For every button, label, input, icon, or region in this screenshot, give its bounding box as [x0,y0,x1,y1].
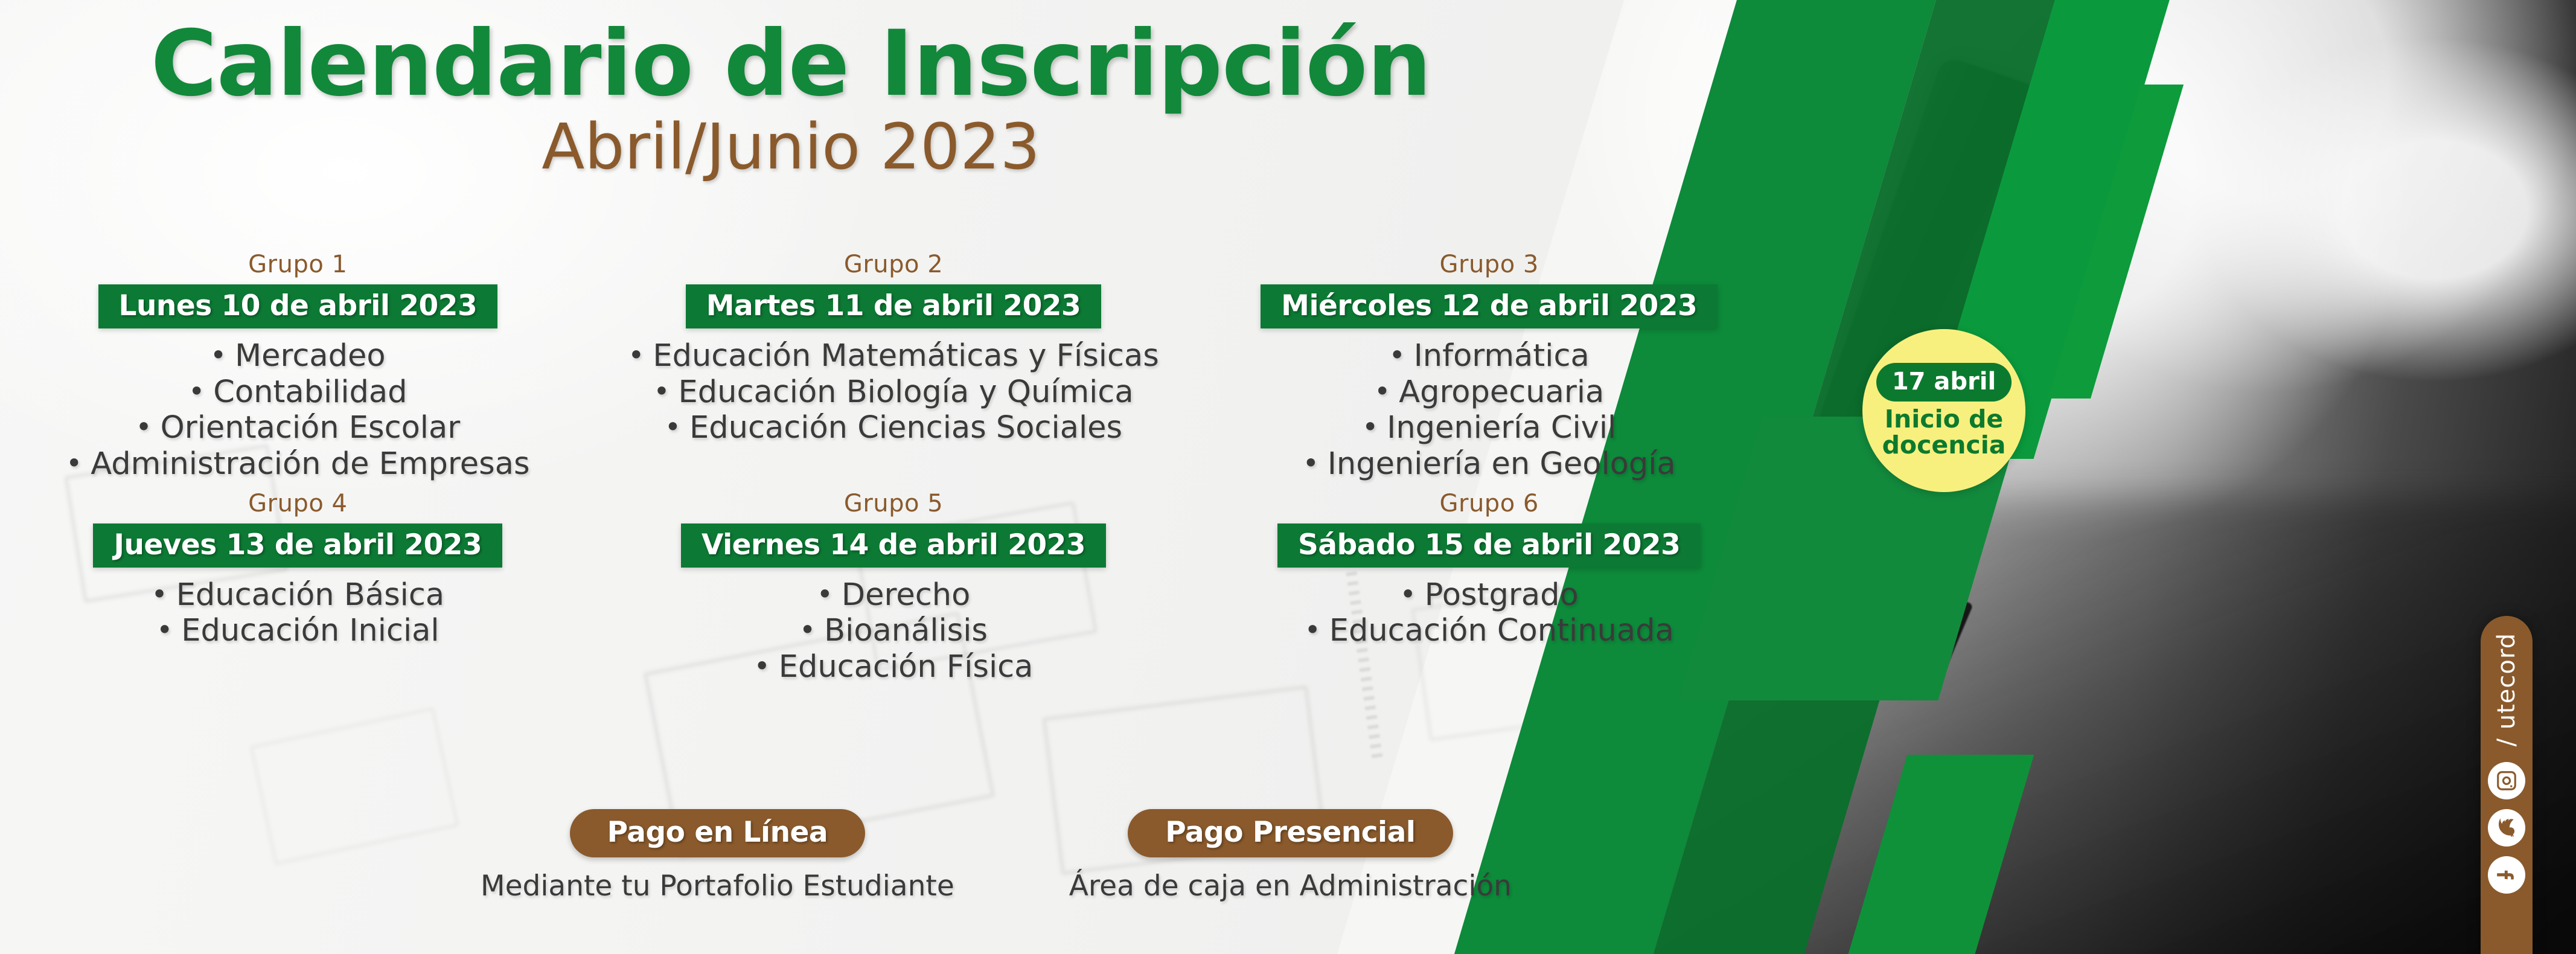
group-date-badge: Sábado 15 de abril 2023 [1277,523,1701,568]
group-grid: Grupo 1 Lunes 10 de abril 2023 Mercadeo … [0,251,1787,685]
career-list: Educación Básica Educación Inicial [11,577,585,649]
payment-options: Pago en Línea Mediante tu Portafolio Est… [423,809,1570,903]
start-of-classes-badge: 17 abril Inicio de docencia [1862,329,2025,492]
career-list: Postgrado Educación Continuada [1202,577,1776,649]
payment-option-in-person: Pago Presencial Área de caja en Administ… [1069,809,1512,903]
career-list: Mercadeo Contabilidad Orientación Escola… [11,338,585,482]
online-payment-button[interactable]: Pago en Línea [570,809,866,857]
group-date-badge: Martes 11 de abril 2023 [686,284,1101,328]
badge-label: Inicio de docencia [1882,406,2006,459]
group-label: Grupo 6 [1202,490,1776,517]
list-item: Ingeniería Civil [1202,410,1776,446]
group-row-first: Grupo 1 Lunes 10 de abril 2023 Mercadeo … [0,251,1787,482]
list-item: Administración de Empresas [11,446,585,482]
group-card-3: Grupo 3 Miércoles 12 de abril 2023 Infor… [1191,251,1787,482]
in-person-payment-button[interactable]: Pago Presencial [1128,809,1453,857]
group-label: Grupo 4 [11,490,585,517]
group-label: Grupo 1 [11,251,585,278]
group-card-5: Grupo 5 Viernes 14 de abril 2023 Derecho… [596,490,1192,685]
list-item: Orientación Escolar [11,410,585,446]
facebook-icon[interactable] [2488,856,2525,894]
online-payment-note: Mediante tu Portafolio Estudiante [481,869,954,903]
group-label: Grupo 3 [1202,251,1776,278]
group-date-badge: Miércoles 12 de abril 2023 [1261,284,1718,328]
group-date-badge: Viernes 14 de abril 2023 [681,523,1106,568]
group-date-badge: Lunes 10 de abril 2023 [98,284,498,328]
group-label: Grupo 2 [607,251,1181,278]
group-card-1: Grupo 1 Lunes 10 de abril 2023 Mercadeo … [0,251,596,482]
twitter-icon[interactable] [2488,809,2525,847]
registration-calendar-poster: Calendario de Inscripción Abril/Junio 20… [0,0,2576,954]
social-media-rail: / utecord [2481,616,2533,954]
in-person-payment-note: Área de caja en Administración [1069,869,1512,903]
list-item: Educación Matemáticas y Físicas [607,338,1181,374]
list-item: Contabilidad [11,374,585,411]
instagram-icon[interactable] [2488,762,2525,799]
group-label: Grupo 5 [607,490,1181,517]
list-item: Mercadeo [11,338,585,374]
list-item: Derecho [607,577,1181,613]
list-item: Educación Continuada [1202,613,1776,649]
list-item: Postgrado [1202,577,1776,613]
badge-label-line1: Inicio de [1885,405,2003,434]
list-item: Educación Inicial [11,613,585,649]
group-row-second: Grupo 4 Jueves 13 de abril 2023 Educació… [0,490,1787,685]
list-item: Informática [1202,338,1776,374]
career-list: Derecho Bioanálisis Educación Física [607,577,1181,685]
career-list: Informática Agropecuaria Ingeniería Civi… [1202,338,1776,482]
social-handle-text: / utecord [2493,633,2520,746]
list-item: Educación Física [607,649,1181,685]
career-list: Educación Matemáticas y Físicas Educació… [607,338,1181,446]
list-item: Bioanálisis [607,613,1181,649]
group-date-badge: Jueves 13 de abril 2023 [93,523,502,568]
badge-date-pill: 17 abril [1876,363,2012,402]
badge-label-line2: docencia [1882,431,2006,459]
list-item: Educación Básica [11,577,585,613]
group-card-4: Grupo 4 Jueves 13 de abril 2023 Educació… [0,490,596,685]
list-item: Educación Ciencias Sociales [607,410,1181,446]
list-item: Agropecuaria [1202,374,1776,411]
group-card-2: Grupo 2 Martes 11 de abril 2023 Educació… [596,251,1192,482]
list-item: Ingeniería en Geología [1202,446,1776,482]
group-card-6: Grupo 6 Sábado 15 de abril 2023 Postgrad… [1191,490,1787,685]
payment-option-online: Pago en Línea Mediante tu Portafolio Est… [481,809,954,903]
list-item: Educación Biología y Química [607,374,1181,411]
